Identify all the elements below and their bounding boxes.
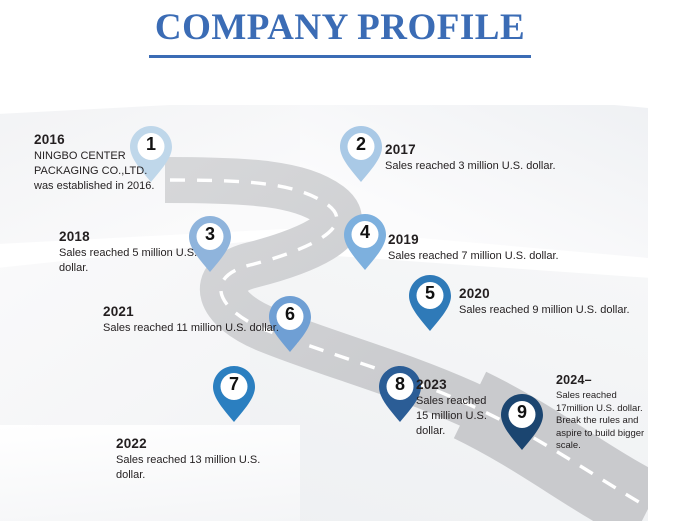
timeline-entry-3-year: 2018 [59, 228, 199, 245]
page-title: COMPANY PROFILE [149, 6, 531, 52]
timeline-entry-4: 2019 Sales reached 7 million U.S. dollar… [388, 231, 603, 264]
timeline-entry-6: 2021 Sales reached 11 million U.S. dolla… [103, 303, 328, 336]
page-title-block: COMPANY PROFILE [0, 6, 680, 58]
timeline-entry-9-description-secondary: Break the rules and aspire to build bigg… [556, 415, 648, 453]
timeline-entry-8: 2023 Sales reached 15 million U.S. dolla… [416, 376, 501, 439]
timeline-entry-7: 2022 Sales reached 13 million U.S. dolla… [116, 435, 261, 483]
timeline-entry-6-year: 2021 [103, 303, 328, 320]
timeline-entry-5-description: Sales reached 9 million U.S. dollar. [459, 303, 648, 318]
timeline-entry-8-year: 2023 [416, 376, 501, 393]
timeline-pin-5[interactable]: 5 [408, 274, 452, 332]
timeline-entry-1-year: 2016 [34, 131, 169, 148]
timeline-entry-1-description: NINGBO CENTER PACKAGING CO.,LTD. was est… [34, 149, 169, 194]
timeline-entry-6-description: Sales reached 11 million U.S. dollar. [103, 321, 328, 336]
timeline-entry-9-description: Sales reached 17million U.S. dollar. [556, 390, 648, 415]
timeline-pin-2[interactable]: 2 [339, 125, 383, 183]
timeline-entry-1: 2016 NINGBO CENTER PACKAGING CO.,LTD. wa… [34, 131, 169, 194]
timeline-entry-8-description: Sales reached 15 million U.S. dollar. [416, 394, 501, 439]
timeline-entry-7-description: Sales reached 13 million U.S. dollar. [116, 453, 261, 483]
timeline-entry-2-year: 2017 [385, 141, 595, 158]
timeline-entry-4-year: 2019 [388, 231, 603, 248]
timeline-entry-5: 2020 Sales reached 9 million U.S. dollar… [459, 285, 648, 318]
timeline-entry-2: 2017 Sales reached 3 million U.S. dollar… [385, 141, 595, 174]
timeline-entry-7-year: 2022 [116, 435, 261, 452]
company-profile-infographic: COMPANY PROFILE [0, 0, 680, 526]
timeline-entry-2-description: Sales reached 3 million U.S. dollar. [385, 159, 595, 174]
timeline-entry-5-year: 2020 [459, 285, 648, 302]
timeline-pin-4[interactable]: 4 [343, 213, 387, 271]
timeline-entry-9-year: 2024– [556, 372, 648, 389]
timeline-entry-9: 2024– Sales reached 17million U.S. dolla… [556, 372, 648, 453]
timeline-entry-4-description: Sales reached 7 million U.S. dollar. [388, 249, 603, 264]
timeline-pin-9[interactable]: 9 [500, 393, 544, 451]
timeline-pin-7[interactable]: 7 [212, 365, 256, 423]
timeline-entry-3-description: Sales reached 5 million U.S. dollar. [59, 246, 199, 276]
title-underline [149, 55, 531, 58]
timeline-panel: 1 2 3 4 5 6 7 8 [0, 105, 648, 521]
timeline-entry-3: 2018 Sales reached 5 million U.S. dollar… [59, 228, 199, 276]
